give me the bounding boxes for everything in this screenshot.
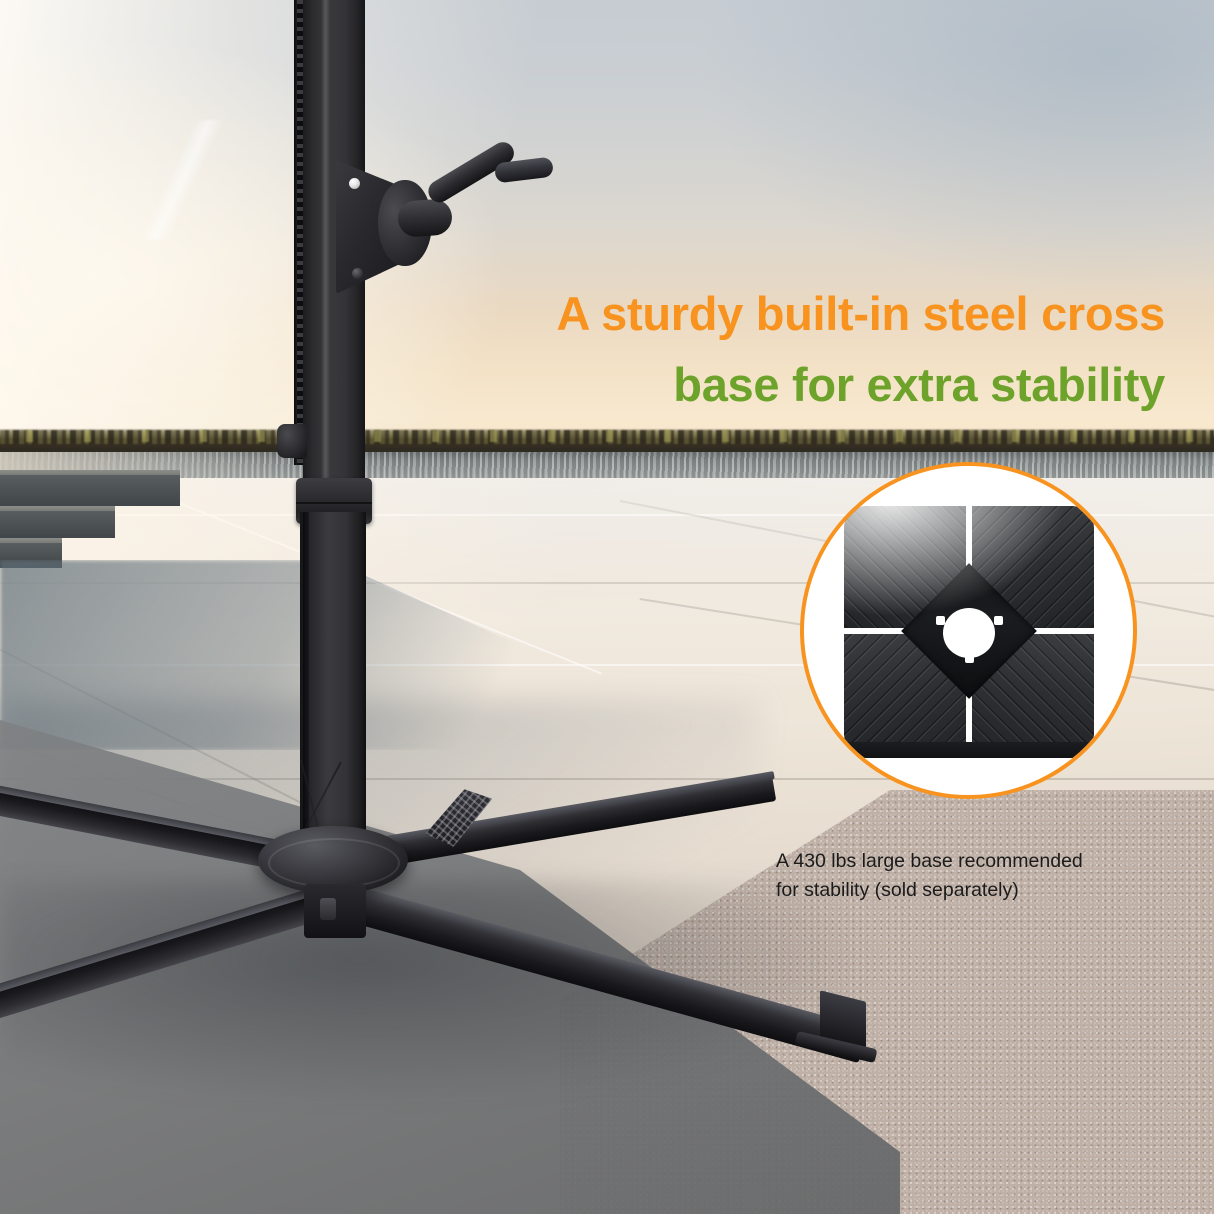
base-plate-front-edge (844, 742, 1094, 758)
base-hole-tab-bottom (965, 654, 974, 663)
height-adjust-knob (277, 424, 307, 458)
headline-line-2: base for extra stability (360, 349, 1165, 420)
cross-base-lock-slot (320, 898, 336, 920)
inset-caption: A 430 lbs large base recommended for sta… (776, 847, 1176, 905)
pole-collar-seam (296, 502, 372, 504)
treeline-highlights (0, 430, 1214, 442)
contrail-streak (60, 120, 310, 240)
base-hole-tab-right (994, 616, 1003, 625)
product-marketing-image: A sturdy built-in steel cross base for e… (0, 0, 1214, 1214)
sky-haze (694, 0, 1214, 300)
cross-base-hub-ring (268, 838, 400, 888)
caption-line-2: for stability (sold separately) (776, 876, 1176, 905)
tilt-handle-shaft (397, 198, 453, 238)
base-hole-tab-left (936, 616, 945, 625)
base-weight-plates (844, 506, 1094, 756)
base-plates-inset-circle (800, 462, 1137, 799)
pole-highlight (321, 0, 330, 487)
headline: A sturdy built-in steel cross base for e… (360, 278, 1165, 420)
caption-line-1: A 430 lbs large base recommended (776, 847, 1176, 876)
bracket-bolt-top-icon (349, 178, 360, 189)
headline-line-1: A sturdy built-in steel cross (360, 278, 1165, 349)
base-center-hole (943, 608, 995, 658)
